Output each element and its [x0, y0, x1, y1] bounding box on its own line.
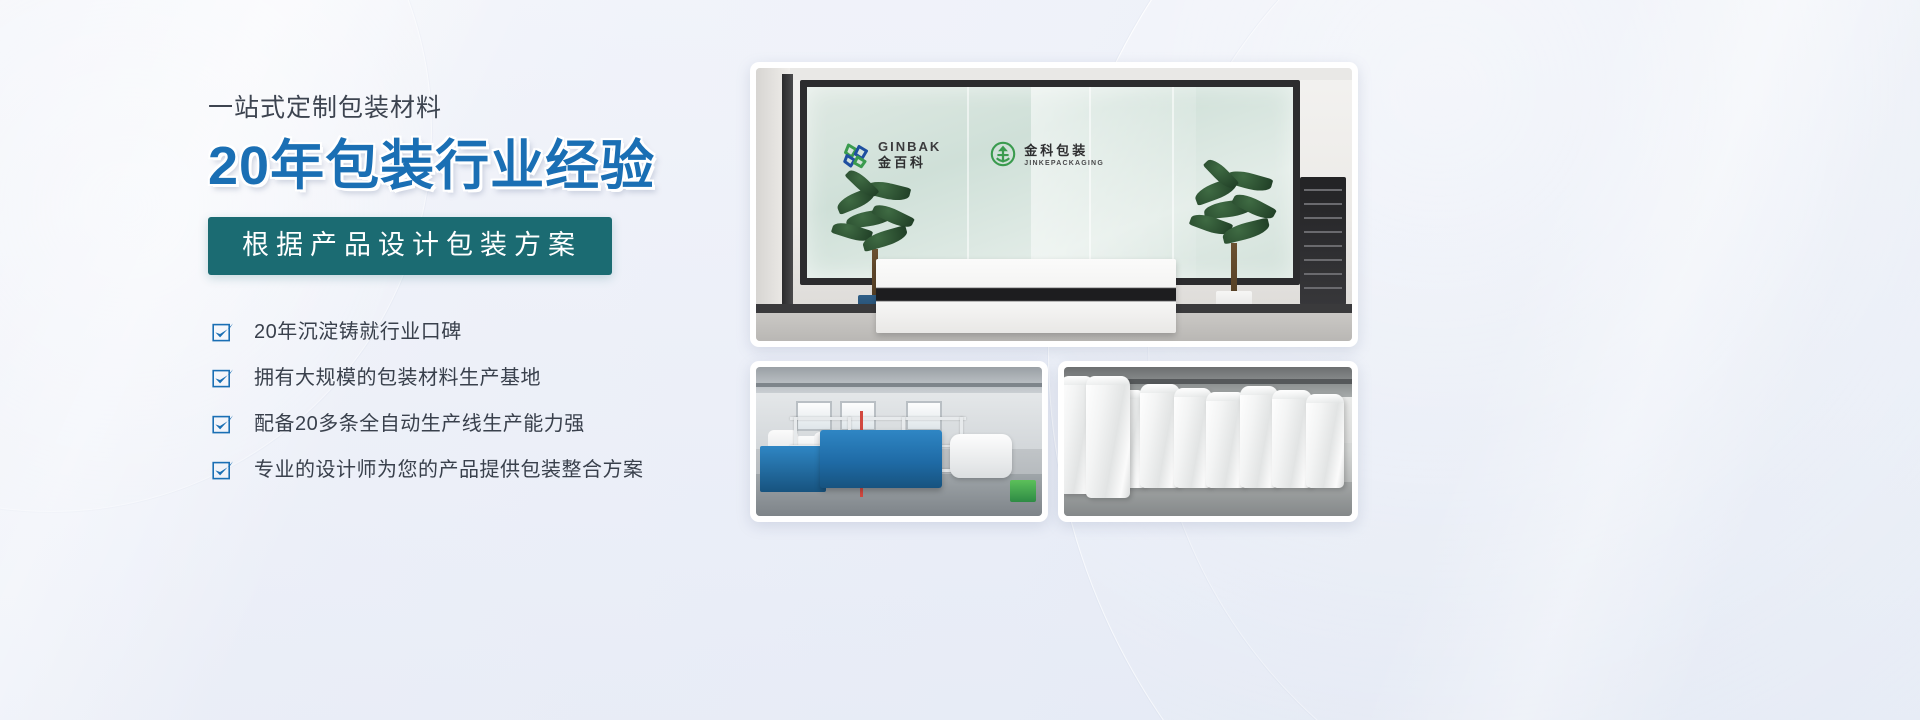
list-item-label: 拥有大规模的包装材料生产基地 [254, 368, 541, 388]
list-item-label: 专业的设计师为您的产品提供包装整合方案 [254, 460, 644, 480]
checkbox-checked-icon [212, 321, 234, 343]
ginbak-logo-en: GINBAK [878, 140, 941, 153]
ginbak-logo: GINBAK 金百科 [841, 139, 941, 169]
jinke-logo-cn: 金科包装 [1024, 144, 1104, 157]
background-diagonal-highlight-right [1295, 0, 1920, 720]
jinke-logo-en: JINKEPACKAGING [1024, 160, 1104, 167]
hero-banner: 一站式定制包装材料 20年包装行业经验 根据产品设计包装方案 20年沉淀铸就行业… [0, 0, 1920, 720]
office-reception-photo: GINBAK 金百科 [750, 62, 1358, 347]
ginbak-mark-icon [841, 139, 871, 169]
jinke-logo: 金科包装 JINKEPACKAGING [989, 140, 1104, 168]
ginbak-logo-cn: 金百科 [878, 156, 941, 169]
list-item-label: 20年沉淀铸就行业口碑 [254, 322, 462, 342]
production-machine-photo [750, 361, 1048, 522]
plant-right [1188, 163, 1280, 325]
storage-shelf [1300, 177, 1346, 305]
ribbon-banner: 根据产品设计包装方案 [208, 217, 612, 275]
list-item-label: 配备20多条全自动生产线生产能力强 [254, 414, 585, 434]
checkbox-checked-icon [212, 459, 234, 481]
paper-rolls-photo [1058, 361, 1358, 522]
checkbox-checked-icon [212, 367, 234, 389]
wall-logos: GINBAK 金百科 [841, 139, 1104, 169]
jinke-mark-icon [989, 140, 1017, 168]
checkbox-checked-icon [212, 413, 234, 435]
photo-gallery: GINBAK 金百科 [750, 62, 1358, 522]
reception-desk [876, 259, 1176, 333]
